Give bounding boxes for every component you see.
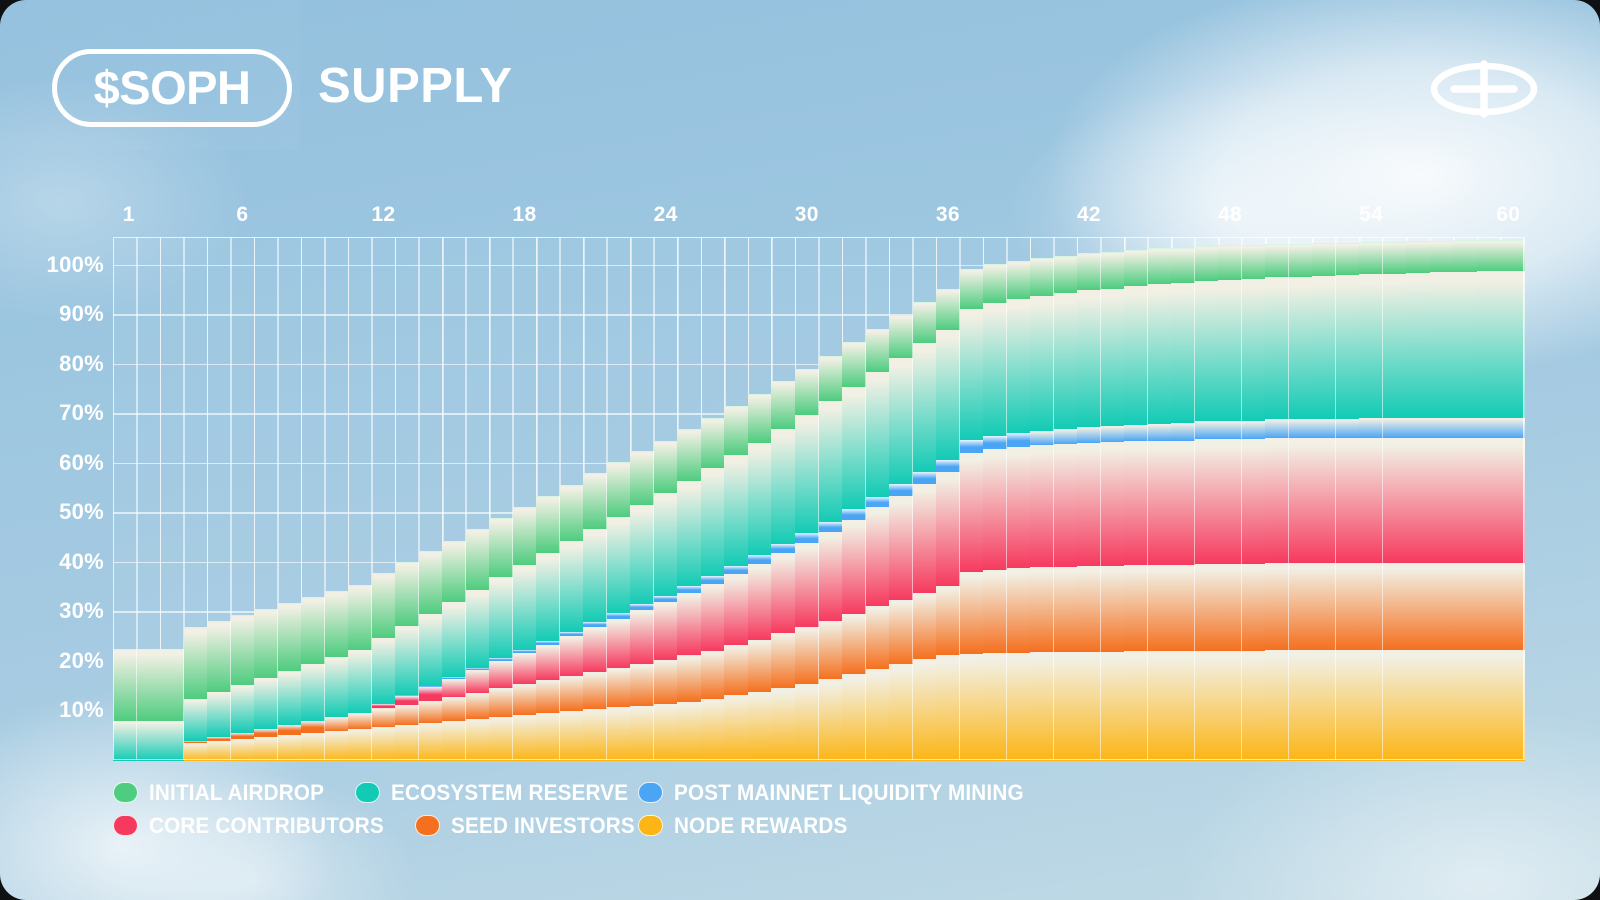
stack-segment-ecosystem_reserve (1030, 295, 1054, 431)
x-axis-tick-label: 1 (123, 203, 135, 227)
stack-segment-node_rewards (348, 728, 372, 761)
stack-segment-post_mainnet_liquidity_mining (960, 439, 984, 453)
stack-segment-post_mainnet_liquidity_mining (1430, 417, 1454, 438)
stack-segment-node_rewards (1148, 650, 1172, 761)
stack-column (866, 237, 890, 760)
stack-segment-seed_investors (983, 569, 1007, 653)
legend-label: SEED INVESTORS (451, 813, 635, 839)
stack-column (513, 237, 537, 760)
stack-column (1030, 237, 1054, 760)
stack-segment-post_mainnet_liquidity_mining (913, 471, 937, 484)
x-axis-tick-label: 12 (371, 203, 395, 227)
stack-segment-node_rewards (1406, 649, 1430, 761)
stack-segment-post_mainnet_liquidity_mining (1359, 417, 1383, 437)
stack-segment-initial_airdrop (1359, 242, 1383, 274)
stack-segment-seed_investors (607, 667, 631, 708)
stack-segment-initial_airdrop (419, 551, 443, 613)
stack-segment-ecosystem_reserve (1289, 276, 1313, 420)
stack-segment-seed_investors (1030, 566, 1054, 652)
stack-segment-core_contributors (1101, 441, 1125, 566)
stack-segment-seed_investors (1359, 562, 1383, 650)
y-axis-tick-label: 50% (59, 499, 104, 525)
stack-segment-seed_investors (795, 626, 819, 683)
stack-segment-seed_investors (1336, 562, 1360, 650)
stack-segment-initial_airdrop (1242, 245, 1266, 279)
stack-segment-core_contributors (1148, 440, 1172, 565)
stack-segment-node_rewards (866, 668, 890, 761)
stack-column (536, 237, 560, 760)
stack-segment-initial_airdrop (160, 649, 184, 722)
stack-segment-ecosystem_reserve (1007, 298, 1031, 433)
legend-item-node_rewards[interactable]: NODE REWARDS (638, 809, 859, 842)
stack-segment-ecosystem_reserve (654, 492, 678, 596)
stack-segment-core_contributors (1007, 446, 1031, 568)
stack-segment-core_contributors (395, 695, 419, 705)
stack-column (607, 237, 631, 760)
stack-segment-seed_investors (936, 585, 960, 655)
stack-segment-node_rewards (1242, 650, 1266, 761)
stack-segment-initial_airdrop (1500, 240, 1524, 271)
stack-segment-node_rewards (325, 730, 349, 761)
legend-row: CORE CONTRIBUTORSSEED INVESTORSNODE REWA… (113, 809, 1493, 842)
stack-segment-initial_airdrop (1265, 244, 1289, 277)
stack-segment-ecosystem_reserve (137, 720, 161, 761)
stack-column (795, 237, 819, 760)
stack-segment-post_mainnet_liquidity_mining (1195, 420, 1219, 439)
stack-segment-initial_airdrop (1124, 250, 1148, 286)
stack-segment-core_contributors (489, 660, 513, 688)
supply-chart-canvas: $SOPH SUPPLY 16121824303642485460 10%20%… (0, 0, 1600, 900)
stack-segment-node_rewards (630, 705, 654, 761)
stack-segment-node_rewards (936, 655, 960, 761)
stack-segment-ecosystem_reserve (960, 308, 984, 440)
stack-segment-ecosystem_reserve (1195, 280, 1219, 422)
stack-segment-core_contributors (654, 601, 678, 660)
stack-column (231, 237, 255, 760)
stack-segment-core_contributors (1077, 442, 1101, 566)
stack-segment-node_rewards (489, 716, 513, 761)
stack-segment-ecosystem_reserve (1242, 278, 1266, 421)
stack-segment-ecosystem_reserve (677, 480, 701, 586)
stack-segment-node_rewards (607, 707, 631, 761)
stack-segment-initial_airdrop (583, 473, 607, 528)
stack-segment-node_rewards (254, 736, 278, 761)
x-axis-tick-label: 60 (1496, 203, 1520, 227)
stack-segment-seed_investors (1453, 562, 1477, 650)
stack-column (1383, 237, 1407, 760)
stack-segment-core_contributors (866, 506, 890, 606)
legend-label: NODE REWARDS (674, 813, 847, 839)
stack-column (1101, 237, 1125, 760)
stack-segment-initial_airdrop (748, 394, 772, 443)
stack-segment-seed_investors (1242, 563, 1266, 651)
stack-segment-post_mainnet_liquidity_mining (724, 565, 748, 574)
stack-segment-node_rewards (795, 683, 819, 761)
stack-segment-core_contributors (1336, 437, 1360, 563)
legend-item-core_contributors[interactable]: CORE CONTRIBUTORS (113, 809, 399, 842)
stack-segment-ecosystem_reserve (1477, 270, 1501, 418)
stack-segment-initial_airdrop (536, 496, 560, 553)
stack-segment-core_contributors (1430, 437, 1454, 563)
stack-segment-node_rewards (1359, 649, 1383, 761)
stack-segment-core_contributors (819, 531, 843, 621)
stack-segment-initial_airdrop (231, 615, 255, 685)
stack-segment-core_contributors (1218, 438, 1242, 564)
stack-segment-core_contributors (960, 452, 984, 572)
stack-segment-initial_airdrop (1430, 241, 1454, 272)
stack-segment-node_rewards (536, 712, 560, 761)
stack-column (137, 237, 161, 760)
stack-segment-initial_airdrop (301, 597, 325, 664)
stack-column (113, 237, 137, 760)
stack-segment-ecosystem_reserve (395, 625, 419, 695)
legend-swatch-icon (638, 782, 663, 803)
stack-segment-initial_airdrop (1406, 241, 1430, 273)
stack-segment-initial_airdrop (442, 541, 466, 602)
stack-segment-initial_airdrop (1218, 245, 1242, 279)
stack-segment-ecosystem_reserve (207, 691, 231, 737)
stack-segment-post_mainnet_liquidity_mining (1148, 423, 1172, 441)
stack-segment-initial_airdrop (889, 315, 913, 358)
y-axis-tick-label: 40% (59, 549, 104, 575)
x-axis-tick-labels: 16121824303642485460 (113, 203, 1524, 231)
stack-segment-post_mainnet_liquidity_mining (654, 595, 678, 602)
stack-column (1312, 237, 1336, 760)
stack-segment-node_rewards (1289, 649, 1313, 761)
stack-segment-seed_investors (913, 592, 937, 660)
stack-segment-ecosystem_reserve (466, 589, 490, 668)
stack-segment-core_contributors (936, 471, 960, 586)
stack-segment-core_contributors (913, 483, 937, 593)
stack-segment-core_contributors (724, 573, 748, 645)
stack-segment-ecosystem_reserve (301, 663, 325, 721)
stack-segment-core_contributors (1359, 437, 1383, 563)
stack-segment-initial_airdrop (254, 609, 278, 678)
stack-segment-node_rewards (513, 714, 537, 761)
stack-segment-post_mainnet_liquidity_mining (701, 575, 725, 583)
stack-segment-ecosystem_reserve (1383, 273, 1407, 419)
stack-segment-node_rewards (442, 720, 466, 761)
stack-column (677, 237, 701, 760)
stack-column (1453, 237, 1477, 760)
legend-label: POST MAINNET LIQUIDITY MINING (674, 780, 1024, 806)
stack-segment-node_rewards (1218, 650, 1242, 761)
stack-column (1077, 237, 1101, 760)
stack-segment-initial_airdrop (866, 329, 890, 373)
stack-segment-node_rewards (583, 708, 607, 761)
stack-segment-post_mainnet_liquidity_mining (1406, 417, 1430, 437)
stack-segment-ecosystem_reserve (1054, 292, 1078, 429)
stack-segment-ecosystem_reserve (1265, 276, 1289, 419)
stack-segment-node_rewards (1171, 650, 1195, 761)
y-axis-tick-label: 20% (59, 648, 104, 674)
stack-segment-seed_investors (1430, 562, 1454, 650)
stack-segment-seed_investors (889, 599, 913, 665)
stack-segment-core_contributors (1312, 437, 1336, 563)
stack-column (372, 237, 396, 760)
stack-column (301, 237, 325, 760)
stack-column (1336, 237, 1360, 760)
y-axis-tick-label: 60% (59, 450, 104, 476)
stack-segment-node_rewards (1077, 651, 1101, 761)
stack-segment-post_mainnet_liquidity_mining (842, 508, 866, 519)
stack-segment-ecosystem_reserve (489, 576, 513, 658)
stack-segment-ecosystem_reserve (607, 516, 631, 614)
stack-segment-node_rewards (301, 732, 325, 761)
stack-segment-ecosystem_reserve (231, 684, 255, 733)
stack-segment-seed_investors (724, 644, 748, 695)
stack-segment-seed_investors (513, 683, 537, 715)
stack-segment-ecosystem_reserve (795, 414, 819, 533)
stack-segment-seed_investors (654, 659, 678, 704)
stack-segment-post_mainnet_liquidity_mining (630, 603, 654, 610)
stack-segment-post_mainnet_liquidity_mining (1265, 418, 1289, 438)
stack-segment-seed_investors (442, 696, 466, 722)
stack-segment-ecosystem_reserve (1312, 275, 1336, 419)
stack-segment-core_contributors (1383, 437, 1407, 563)
stack-segment-initial_airdrop (325, 591, 349, 657)
stack-segment-ecosystem_reserve (348, 649, 372, 713)
stack-segment-core_contributors (1124, 440, 1148, 565)
stack-segment-ecosystem_reserve (842, 386, 866, 509)
stack-column (724, 237, 748, 760)
stack-segment-core_contributors (795, 542, 819, 628)
stack-segment-initial_airdrop (1312, 243, 1336, 276)
stack-segment-node_rewards (560, 710, 584, 761)
stack-segment-core_contributors (889, 495, 913, 600)
stack-segment-post_mainnet_liquidity_mining (1218, 420, 1242, 439)
stack-segment-core_contributors (536, 644, 560, 681)
stack-segment-seed_investors (1218, 563, 1242, 651)
stack-segment-core_contributors (983, 448, 1007, 569)
stack-segment-node_rewards (1101, 651, 1125, 761)
stack-segment-seed_investors (748, 639, 772, 692)
y-axis-tick-label: 70% (59, 400, 104, 426)
stack-segment-ecosystem_reserve (1359, 273, 1383, 418)
stack-segment-seed_investors (842, 613, 866, 674)
stack-segment-core_contributors (1195, 438, 1219, 564)
stack-segment-initial_airdrop (1077, 253, 1101, 290)
stack-segment-seed_investors (395, 704, 419, 726)
stack-segment-post_mainnet_liquidity_mining (1007, 432, 1031, 447)
stack-column (889, 237, 913, 760)
stack-segment-node_rewards (395, 724, 419, 761)
stack-segment-post_mainnet_liquidity_mining (795, 532, 819, 542)
stack-segment-core_contributors (1054, 443, 1078, 567)
stack-segment-node_rewards (1195, 650, 1219, 761)
stack-segment-initial_airdrop (348, 585, 372, 650)
stack-segment-initial_airdrop (654, 441, 678, 494)
legend-item-post_mainnet_liquidity_mining[interactable]: POST MAINNET LIQUIDITY MINING (638, 776, 1046, 809)
stack-column (1500, 237, 1524, 760)
stack-column (1124, 237, 1148, 760)
stack-segment-core_contributors (630, 609, 654, 663)
stack-segment-initial_airdrop (1453, 240, 1477, 271)
stack-segment-seed_investors (419, 700, 443, 724)
x-axis-tick-label: 18 (513, 203, 537, 227)
x-axis-tick-label: 42 (1077, 203, 1101, 227)
stack-segment-core_contributors (771, 552, 795, 633)
stack-segment-initial_airdrop (184, 627, 208, 699)
stack-segment-node_rewards (771, 687, 795, 761)
y-axis-tick-label: 80% (59, 351, 104, 377)
stack-column (466, 237, 490, 760)
stack-segment-node_rewards (1054, 651, 1078, 761)
stack-segment-ecosystem_reserve (983, 302, 1007, 436)
stack-segment-initial_airdrop (278, 603, 302, 671)
stack-segment-ecosystem_reserve (113, 720, 137, 761)
stack-segment-initial_airdrop (560, 485, 584, 541)
stack-segment-core_contributors (1406, 437, 1430, 563)
stack-segment-post_mainnet_liquidity_mining (1336, 418, 1360, 438)
stack-segment-post_mainnet_liquidity_mining (1477, 417, 1501, 438)
stack-segment-core_contributors (701, 583, 725, 651)
legend-swatch-icon (113, 815, 138, 836)
stack-segment-seed_investors (1195, 563, 1219, 651)
stack-segment-post_mainnet_liquidity_mining (936, 459, 960, 472)
stack-segment-node_rewards (654, 703, 678, 761)
stack-segment-seed_investors (372, 708, 396, 728)
legend-item-seed_investors[interactable]: SEED INVESTORS (415, 809, 647, 842)
stack-column (419, 237, 443, 760)
stack-segment-post_mainnet_liquidity_mining (1124, 424, 1148, 441)
stack-segment-node_rewards (278, 734, 302, 761)
y-axis-tick-label: 90% (59, 301, 104, 327)
stack-segment-core_contributors (442, 678, 466, 697)
legend-item-ecosystem_reserve[interactable]: ECOSYSTEM RESERVE (355, 776, 643, 809)
stack-segment-core_contributors (607, 618, 631, 668)
stack-segment-ecosystem_reserve (513, 564, 537, 649)
stack-segment-initial_airdrop (936, 289, 960, 330)
stack-column (325, 237, 349, 760)
stack-segment-initial_airdrop (913, 302, 937, 344)
stack-segment-initial_airdrop (819, 356, 843, 402)
stack-segment-node_rewards (466, 718, 490, 761)
stack-segment-ecosystem_reserve (160, 720, 184, 761)
stack-column (913, 237, 937, 760)
stack-segment-ecosystem_reserve (254, 677, 278, 729)
x-axis-tick-label: 54 (1359, 203, 1383, 227)
stack-segment-post_mainnet_liquidity_mining (983, 435, 1007, 449)
stack-segment-initial_airdrop (724, 406, 748, 456)
stack-segment-seed_investors (819, 620, 843, 679)
stack-segment-initial_airdrop (607, 462, 631, 516)
legend-label: CORE CONTRIBUTORS (149, 813, 384, 839)
stack-segment-post_mainnet_liquidity_mining (1312, 418, 1336, 438)
stack-segment-seed_investors (325, 716, 349, 731)
stack-segment-ecosystem_reserve (1218, 279, 1242, 421)
stack-segment-ecosystem_reserve (866, 371, 890, 496)
stack-segment-node_rewards (1500, 649, 1524, 761)
stack-segment-initial_airdrop (1195, 246, 1219, 281)
stack-column (1430, 237, 1454, 760)
stack-segment-seed_investors (536, 679, 560, 713)
stack-column (395, 237, 419, 760)
legend-label: ECOSYSTEM RESERVE (391, 780, 628, 806)
stack-column (1171, 237, 1195, 760)
stack-column (630, 237, 654, 760)
stack-segment-ecosystem_reserve (819, 400, 843, 521)
stack-segment-core_contributors (748, 563, 772, 640)
stack-segment-core_contributors (466, 669, 490, 692)
stack-segment-seed_investors (677, 655, 701, 702)
stack-column (771, 237, 795, 760)
stack-segment-ecosystem_reserve (1500, 270, 1524, 418)
stack-segment-seed_investors (1265, 562, 1289, 650)
stack-segment-post_mainnet_liquidity_mining (677, 585, 701, 593)
stack-column (1359, 237, 1383, 760)
stack-segment-ecosystem_reserve (724, 454, 748, 565)
stack-segment-seed_investors (1007, 567, 1031, 652)
stack-segment-core_contributors (1030, 444, 1054, 567)
stack-column (207, 237, 231, 760)
stack-column (748, 237, 772, 760)
stack-segment-seed_investors (1477, 562, 1501, 650)
stack-segment-node_rewards (819, 678, 843, 761)
stack-segment-seed_investors (960, 571, 984, 654)
stack-segment-seed_investors (348, 712, 372, 729)
legend-swatch-icon (113, 782, 138, 803)
stack-segment-initial_airdrop (1007, 261, 1031, 300)
x-axis-tick-label: 24 (654, 203, 678, 227)
stack-segment-core_contributors (1242, 438, 1266, 564)
stack-segment-core_contributors (1500, 437, 1524, 563)
stack-segment-core_contributors (1289, 437, 1313, 563)
stack-column (442, 237, 466, 760)
y-axis-tick-labels: 10%20%30%40%50%60%70%80%90%100% (0, 237, 104, 760)
stack-column (1477, 237, 1501, 760)
stack-segment-core_contributors (560, 635, 584, 676)
stack-segment-node_rewards (184, 742, 208, 761)
stack-segment-post_mainnet_liquidity_mining (1077, 426, 1101, 442)
stack-segment-ecosystem_reserve (1101, 288, 1125, 427)
stack-segment-ecosystem_reserve (913, 342, 937, 471)
legend-swatch-icon (355, 782, 380, 803)
stack-segment-post_mainnet_liquidity_mining (889, 483, 913, 495)
y-axis-tick-label: 100% (47, 252, 104, 278)
stack-segment-seed_investors (1101, 565, 1125, 652)
stack-segment-initial_airdrop (842, 342, 866, 387)
stack-segment-node_rewards (1124, 650, 1148, 761)
stack-segment-core_contributors (513, 652, 537, 684)
stack-segment-node_rewards (842, 673, 866, 761)
legend-row: INITIAL AIRDROPECOSYSTEM RESERVEPOST MAI… (113, 776, 1493, 809)
stack-segment-initial_airdrop (1336, 243, 1360, 275)
legend-item-initial_airdrop[interactable]: INITIAL AIRDROP (113, 776, 335, 809)
stack-segment-seed_investors (771, 632, 795, 687)
x-axis-tick-label: 30 (795, 203, 819, 227)
stack-segment-post_mainnet_liquidity_mining (1383, 417, 1407, 437)
stack-segment-core_contributors (419, 686, 443, 700)
stack-segment-seed_investors (1148, 564, 1172, 651)
stack-column (1195, 237, 1219, 760)
stack-segment-seed_investors (1500, 562, 1524, 650)
stack-segment-ecosystem_reserve (278, 670, 302, 725)
stack-segment-ecosystem_reserve (748, 442, 772, 556)
stack-segment-ecosystem_reserve (583, 528, 607, 623)
stack-segment-node_rewards (913, 658, 937, 761)
stack-segment-initial_airdrop (1148, 248, 1172, 284)
stack-segment-seed_investors (1289, 562, 1313, 650)
stack-segment-initial_airdrop (207, 621, 231, 692)
stack-column (278, 237, 302, 760)
stack-column (1289, 237, 1313, 760)
stack-column (819, 237, 843, 760)
stack-segment-seed_investors (866, 605, 890, 669)
chart-area: 16121824303642485460 10%20%30%40%50%60%7… (0, 0, 1600, 900)
stack-segment-post_mainnet_liquidity_mining (748, 554, 772, 563)
stack-column (701, 237, 725, 760)
